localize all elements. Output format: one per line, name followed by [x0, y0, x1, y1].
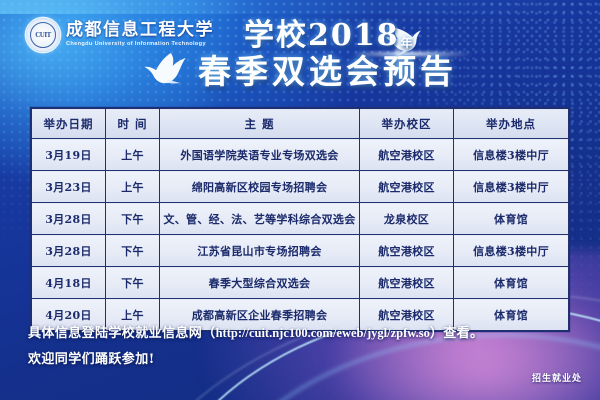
cell-campus: 航空港校区: [360, 139, 454, 171]
footer-text-suffix: ）查看。: [430, 326, 484, 341]
poster-root: CUIT 成都信息工程大学 Chengdu University of Info…: [0, 0, 600, 400]
university-name-block: 成都信息工程大学 Chengdu University of Informati…: [66, 22, 214, 48]
cell-place: 信息楼3楼中厅: [454, 171, 569, 203]
column-header-date: 举办日期: [32, 109, 106, 139]
employment-site-url[interactable]: http://cuit.njc100.com/eweb/jygl/zpfw.so: [216, 326, 430, 340]
cell-campus: 航空港校区: [360, 235, 454, 267]
university-name-cn: 成都信息工程大学: [66, 22, 214, 39]
cell-place: 信息楼3楼中厅: [454, 139, 569, 171]
university-seal-icon: CUIT: [26, 18, 60, 52]
table-body: 3月19日 上午 外国语学院英语专业专场双选会 航空港校区 信息楼3楼中厅 3月…: [32, 139, 569, 331]
column-header-time: 时 间: [106, 109, 160, 139]
footer-note: 具体信息登陆学校就业信息网（http://cuit.njc100.com/ewe…: [28, 322, 483, 367]
title-line-2: 春季双选会预告: [198, 54, 588, 90]
table-row: 3月19日 上午 外国语学院英语专业专场双选会 航空港校区 信息楼3楼中厅: [32, 139, 569, 171]
schedule-table-container: 举办日期 时 间 主 题 举办校区 举办地点 3月19日 上午 外国语学院英语专…: [31, 108, 568, 331]
seal-text: CUIT: [35, 32, 51, 39]
title-line-1: 学校2018年: [198, 20, 588, 52]
cell-campus: 航空港校区: [360, 171, 454, 203]
table-row: 3月23日 上午 绵阳高新区校园专场招聘会 航空港校区 信息楼3楼中厅: [32, 171, 569, 203]
cell-topic: 外国语学院英语专业专场双选会: [160, 139, 360, 171]
cell-time: 下午: [106, 235, 160, 267]
footer-line-2: 欢迎同学们踊跃参加!: [28, 348, 483, 367]
table-header-row: 举办日期 时 间 主 题 举办校区 举办地点: [32, 109, 569, 139]
top-edge-glow: [0, 0, 600, 14]
cell-campus: 航空港校区: [360, 267, 454, 299]
dove-icon-left: [140, 49, 190, 89]
table-header: 举办日期 时 间 主 题 举办校区 举办地点: [32, 109, 569, 139]
cell-place: 体育馆: [454, 203, 569, 235]
cell-time: 上午: [106, 171, 160, 203]
cell-place: 体育馆: [454, 267, 569, 299]
university-logo: CUIT 成都信息工程大学 Chengdu University of Info…: [26, 18, 214, 52]
poster-title: 学校2018年 春季双选会预告: [198, 20, 588, 89]
cell-date: 3月19日: [32, 139, 106, 171]
cell-topic: 文、管、经、法、艺等学科综合双选会: [160, 203, 360, 235]
cell-time: 下午: [106, 203, 160, 235]
university-name-en: Chengdu University of Information Techno…: [66, 42, 214, 48]
cell-date: 3月28日: [32, 235, 106, 267]
column-header-place: 举办地点: [454, 109, 569, 139]
schedule-table: 举办日期 时 间 主 题 举办校区 举办地点 3月19日 上午 外国语学院英语专…: [31, 108, 569, 331]
table-row: 4月18日 下午 春季大型综合双选会 航空港校区 体育馆: [32, 267, 569, 299]
cell-time: 下午: [106, 267, 160, 299]
cell-date: 3月23日: [32, 171, 106, 203]
column-header-topic: 主 题: [160, 109, 360, 139]
column-header-campus: 举办校区: [360, 109, 454, 139]
cell-topic: 绵阳高新区校园专场招聘会: [160, 171, 360, 203]
cell-date: 3月28日: [32, 203, 106, 235]
cell-topic: 春季大型综合双选会: [160, 267, 360, 299]
issuing-department-signature: 招生就业处: [532, 371, 582, 384]
footer-text-prefix: 具体信息登陆学校就业信息网（: [28, 326, 216, 341]
footer-line-1: 具体信息登陆学校就业信息网（http://cuit.njc100.com/ewe…: [28, 322, 483, 341]
table-row: 3月28日 下午 文、管、经、法、艺等学科综合双选会 龙泉校区 体育馆: [32, 203, 569, 235]
table-row: 3月28日 下午 江苏省昆山市专场招聘会 航空港校区 信息楼3楼中厅: [32, 235, 569, 267]
cell-campus: 龙泉校区: [360, 203, 454, 235]
title-year-suffix: 年: [401, 36, 413, 50]
cell-topic: 江苏省昆山市专场招聘会: [160, 235, 360, 267]
cell-time: 上午: [106, 139, 160, 171]
cell-date: 4月18日: [32, 267, 106, 299]
title-main-text: 学校2018: [244, 18, 400, 53]
cell-place: 信息楼3楼中厅: [454, 235, 569, 267]
